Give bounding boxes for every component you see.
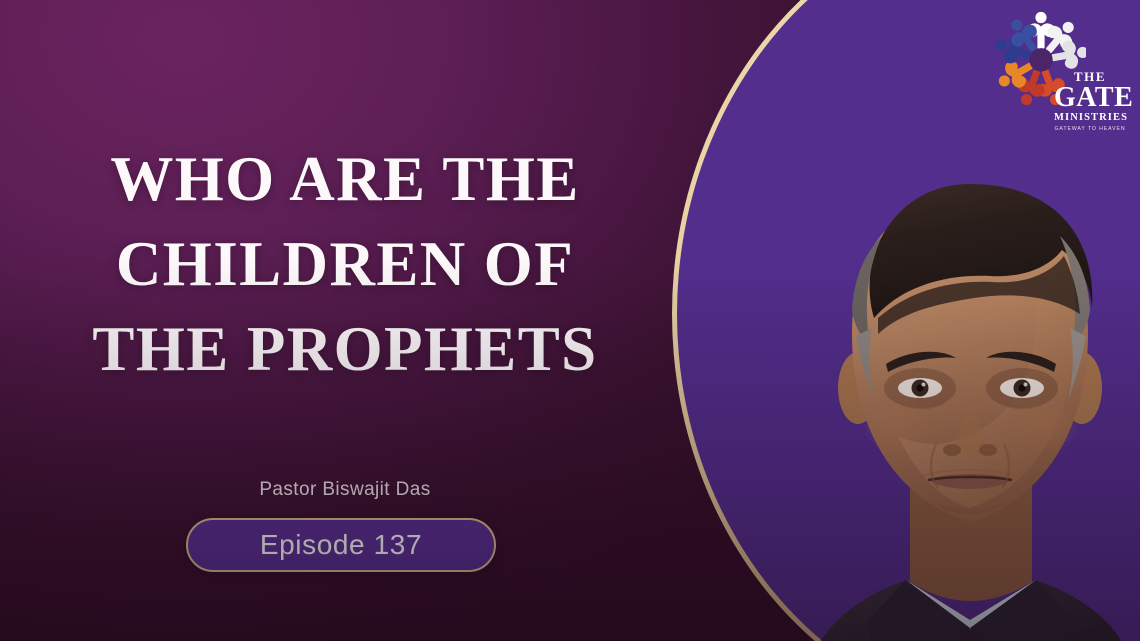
title-block: WHO ARE THE CHILDREN OF THE PROPHETS bbox=[0, 148, 690, 381]
logo-wordmark: THE GATE MINISTRIES GATEWAY TO HEAVEN bbox=[1054, 70, 1126, 133]
title-line-1: WHO ARE THE bbox=[0, 148, 690, 211]
episode-badge: Episode 137 bbox=[186, 518, 496, 572]
logo-tagline: GATEWAY TO HEAVEN bbox=[1054, 126, 1126, 133]
speaker-name: Pastor Biswajit Das bbox=[0, 479, 690, 501]
logo-ministries: MINISTRIES bbox=[1054, 112, 1126, 125]
logo-gate: GATE bbox=[1054, 83, 1126, 112]
video-thumbnail: WHO ARE THE CHILDREN OF THE PROPHETS Pas… bbox=[0, 0, 1140, 641]
episode-label: Episode 137 bbox=[260, 529, 422, 561]
title-line-2: CHILDREN OF bbox=[0, 233, 690, 296]
ministry-logo: THE GATE MINISTRIES GATEWAY TO HEAVEN bbox=[996, 8, 1126, 140]
speaker-portrait bbox=[760, 150, 1140, 641]
title-line-3: THE PROPHETS bbox=[0, 318, 690, 381]
